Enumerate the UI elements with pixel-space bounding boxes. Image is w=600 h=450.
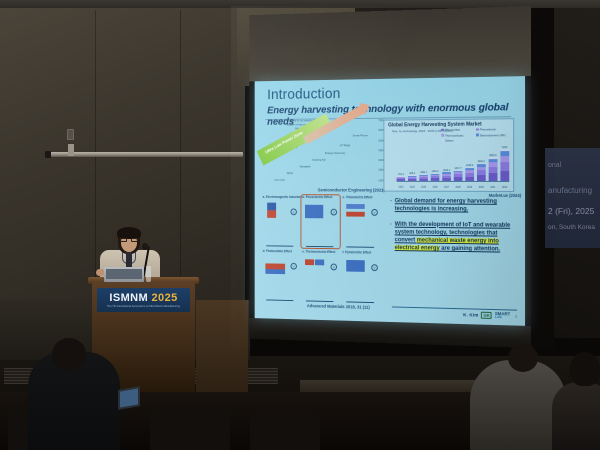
wall-rail xyxy=(45,152,243,157)
smart-lab-logo: SMART LAB xyxy=(495,312,510,320)
diagram-block xyxy=(305,205,323,219)
x-tick-label: 2032 xyxy=(500,186,509,189)
bar-segment xyxy=(465,177,474,181)
bullet-item: -Global demand for energy harvesting tec… xyxy=(390,197,515,214)
diagram-block xyxy=(267,203,276,211)
node-label: Smart Phone xyxy=(353,133,368,137)
node-label: RFID xyxy=(287,171,293,175)
energy-harvesting-mechanism-grid: a. Electromagnetic inductionVb. Piezoele… xyxy=(262,195,381,304)
bar-value-label: 5150 xyxy=(502,146,507,149)
mechanism-label: d. Photovoltaic Effect xyxy=(263,249,292,253)
y-tick-label: 5000 xyxy=(378,139,383,142)
node-label: Energy Autonomy xyxy=(325,151,345,155)
presenter-laptop xyxy=(104,267,144,282)
mechanism-label: c. Triboelectric Effect xyxy=(343,195,373,199)
y-tick-label: 3000 xyxy=(378,159,383,162)
wall-seam xyxy=(180,10,181,310)
bar-segment xyxy=(500,171,509,181)
mechanism-c: c. Triboelectric EffectV xyxy=(342,195,381,249)
podium-banner: ISMNM 2025 The 7th International Symposi… xyxy=(97,288,190,312)
side-banner-line-4: on, South Korea xyxy=(548,224,595,231)
mechanism-diagram: V xyxy=(303,255,338,302)
mechanism-d: d. Photovoltaic EffectV xyxy=(262,249,300,302)
bar-value-label: 3825.9 xyxy=(489,154,496,157)
x-tick-label: 2030 xyxy=(477,186,486,189)
bar-column: 1504.4 xyxy=(442,138,451,181)
water-bottle xyxy=(146,266,151,282)
screen-top-border xyxy=(249,6,531,81)
mechanisms-citation: Advanced Materials 2018, 31 (11) xyxy=(307,303,370,309)
circuit-wire xyxy=(306,300,333,301)
bar-column: 5150 xyxy=(500,137,509,181)
bar-value-label: 925.4 xyxy=(409,172,415,175)
voltmeter-icon: V xyxy=(331,264,337,271)
gk-logo-icon: GK xyxy=(481,312,492,319)
podium-banner-subtitle: The 7th International Symposium on Micro… xyxy=(107,305,180,308)
bar-column: 1264.2 xyxy=(431,138,440,181)
x-tick-label: 2024 xyxy=(408,186,417,189)
audience-head-far-right xyxy=(570,352,600,386)
legend-swatch-icon xyxy=(441,129,443,131)
bar-column: 1817.7 xyxy=(454,138,463,181)
mechanism-e: e. Thermoelectric EffectV xyxy=(301,250,339,304)
circuit-wire xyxy=(346,246,374,247)
slide-footer: K. Kim GK SMART LAB 1 xyxy=(392,306,517,321)
x-tick-label: 2031 xyxy=(488,186,497,189)
bar-column: 2245.6 xyxy=(465,137,474,181)
mechanism-a: a. Electromagnetic inductionV xyxy=(262,195,300,248)
bullet-dash: - xyxy=(390,220,392,252)
voltmeter-icon: V xyxy=(291,263,297,270)
bullet-text: With the development of IoT and wearable… xyxy=(395,220,515,254)
bar-column: 2916.2 xyxy=(477,137,486,181)
side-banner-line-3: 2 (Fri), 2025 xyxy=(548,206,594,216)
voltmeter-icon: V xyxy=(371,209,378,216)
mechanism-diagram: V xyxy=(264,255,298,301)
y-tick-label: 7000 xyxy=(378,119,383,122)
bar-segment xyxy=(488,173,497,181)
legend-swatch-icon xyxy=(476,134,478,136)
presentation-slide: Introduction Energy harvesting technolog… xyxy=(255,76,525,326)
laptop-screen xyxy=(106,269,142,280)
bar-segment xyxy=(454,177,463,181)
y-tick-label: 2000 xyxy=(378,169,383,172)
legend-item-0: Photovoltaic xyxy=(441,128,476,132)
slide-bullet-list: -Global demand for energy harvesting tec… xyxy=(390,197,515,261)
bar-segment xyxy=(431,178,440,180)
node-label: Hearing Aid xyxy=(312,158,325,162)
author-name: K. Kim xyxy=(463,312,478,317)
circuit-wire xyxy=(306,245,333,246)
diagram-block xyxy=(346,212,365,217)
side-banner-line-1: onal xyxy=(548,162,561,169)
bar-value-label: 2245.6 xyxy=(466,164,473,167)
bar-value-label: 1264.2 xyxy=(432,170,439,173)
bar-segment xyxy=(419,179,428,181)
mechanism-f: f. Pyroelectric EffectV xyxy=(342,250,381,304)
page-title: Introduction xyxy=(267,85,340,102)
mechanism-diagram: V xyxy=(343,201,378,248)
bullet-item: -With the development of IoT and wearabl… xyxy=(390,220,515,254)
bar-column: 925.4 xyxy=(408,138,417,181)
x-tick-label: 2026 xyxy=(431,186,440,189)
x-tick-label: 2028 xyxy=(454,186,463,189)
bar-value-label: 781.2 xyxy=(398,173,404,176)
power-zone-illustration: There is no need to consume power of the… xyxy=(260,120,379,188)
glasses-icon xyxy=(120,238,138,242)
audience-head-right xyxy=(508,344,538,372)
wall-seam xyxy=(95,10,96,310)
circuit-wire xyxy=(346,301,374,302)
mechanism-label: f. Pyroelectric Effect xyxy=(343,250,372,254)
y-tick-label: 6000 xyxy=(378,129,383,132)
mechanism-label: a. Electromagnetic induction xyxy=(263,195,302,199)
node-label: IoT Edge xyxy=(340,143,350,147)
diagram-block xyxy=(265,269,285,274)
diagram-block xyxy=(267,210,276,218)
y-tick-label: 4000 xyxy=(378,149,383,152)
projection-screen: Introduction Energy harvesting technolog… xyxy=(249,6,531,348)
podium-banner-title: ISMNM 2025 xyxy=(109,292,177,304)
voltmeter-icon: V xyxy=(291,208,297,215)
x-tick-label: 2029 xyxy=(465,186,474,189)
chart-bars: 781.2925.41081.11264.21504.41817.72245.6… xyxy=(397,137,510,182)
slide-page-number: 1 xyxy=(515,314,517,318)
seat xyxy=(250,412,320,450)
y-tick-label: 0 xyxy=(382,189,383,192)
mechanism-diagram: V xyxy=(303,201,338,247)
y-tick-label: 1000 xyxy=(378,179,383,182)
legend-item-1: Piezoelectric xyxy=(476,127,511,131)
diagram-block xyxy=(305,259,314,265)
circuit-wire xyxy=(266,299,293,300)
x-tick-label: 2027 xyxy=(442,186,451,189)
wall-outlet xyxy=(67,129,74,140)
bar-column: 1081.1 xyxy=(419,138,428,181)
mechanism-diagram: V xyxy=(264,201,298,247)
seat xyxy=(150,408,230,450)
chart-y-axis: 01000200030004000500060007000 xyxy=(373,121,383,191)
legend-swatch-icon xyxy=(476,128,478,130)
lecture-hall-scene: Introduction Energy harvesting technolog… xyxy=(0,0,600,450)
logo-line-2: LAB xyxy=(495,316,510,320)
node-label: Wearable xyxy=(300,165,311,169)
diagram-block xyxy=(346,260,365,272)
diagram-block xyxy=(346,204,365,209)
bar-value-label: 1817.7 xyxy=(455,167,462,170)
voltmeter-icon: V xyxy=(371,264,378,271)
rail-end-cap xyxy=(45,151,51,158)
rail-bracket xyxy=(68,144,74,156)
node-label: Coin Cell xyxy=(274,178,284,182)
mechanism-label: b. Piezoelectric Effect xyxy=(302,195,332,199)
chart-x-labels: 2023202420252026202720282029203020312032 xyxy=(397,186,510,189)
audience-member-far-right xyxy=(552,382,600,450)
banner-text-year: 2025 xyxy=(152,292,178,304)
bar-column: 3825.9 xyxy=(488,137,497,181)
audience-laptop xyxy=(118,386,140,410)
voltmeter-icon: V xyxy=(331,209,337,216)
bar-column: 781.2 xyxy=(397,138,406,181)
bar-segment xyxy=(408,179,417,181)
banner-text-ismnm: ISMNM xyxy=(109,292,148,304)
side-banner-line-2: anufacturing xyxy=(548,186,592,195)
mechanism-diagram: V xyxy=(343,256,378,303)
bar-segment xyxy=(397,179,406,181)
bar-segment xyxy=(500,162,509,170)
band-label: Ultra Low Power Zone xyxy=(264,130,303,154)
side-door xyxy=(196,300,248,396)
chart-plot-area: 781.2925.41081.11264.21504.41817.72245.6… xyxy=(397,137,510,182)
mechanism-b: b. Piezoelectric EffectV xyxy=(301,195,339,248)
bullet-text-tail: are gaining attention. xyxy=(440,246,500,253)
bullet-text-plain: Global demand for energy harvesting tech… xyxy=(395,198,497,212)
market-bar-chart: Global Energy Harvesting System Market S… xyxy=(383,118,514,192)
bullet-dash: - xyxy=(390,197,392,213)
audience-head-left xyxy=(52,338,86,370)
bar-value-label: 1081.1 xyxy=(420,171,427,174)
bar-value-label: 1504.4 xyxy=(443,169,450,172)
mechanism-label: e. Thermoelectric Effect xyxy=(302,250,335,254)
diagram-block xyxy=(315,259,324,265)
legend-swatch-icon xyxy=(441,134,443,136)
x-tick-label: 2025 xyxy=(419,186,428,189)
bar-segment xyxy=(477,175,486,181)
x-tick-label: 2023 xyxy=(397,186,406,189)
bar-segment xyxy=(442,178,451,181)
microphone-icon xyxy=(142,243,148,250)
circuit-wire xyxy=(266,245,293,246)
bullet-text: Global demand for energy harvesting tech… xyxy=(395,197,515,214)
conference-side-banner: onal anufacturing 2 (Fri), 2025 on, Sout… xyxy=(545,148,600,248)
bar-value-label: 2916.2 xyxy=(478,160,485,163)
